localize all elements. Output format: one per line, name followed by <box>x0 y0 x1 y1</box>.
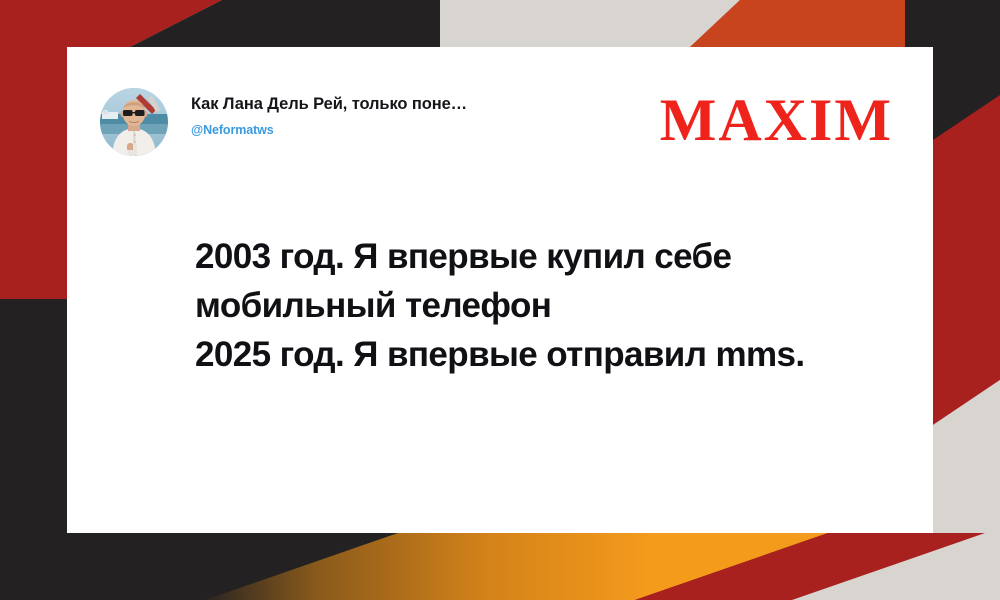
bg-top-dark-connector <box>400 0 440 47</box>
screenshot-canvas: Как Лана Дель Рей, только поне… @Neforma… <box>0 0 1000 600</box>
account-display-name: Как Лана Дель Рей, только поне… <box>191 95 467 114</box>
bg-right-red-slab <box>933 95 1000 425</box>
tweet-body: 2003 год. Я впервые купил себе мобильный… <box>195 232 893 379</box>
maxim-logo: MAXIM <box>660 90 893 150</box>
tweet-body-line: 2003 год. Я впервые купил себе <box>195 232 893 281</box>
avatar[interactable] <box>100 88 168 156</box>
bg-left-red-column <box>0 47 67 299</box>
tweet-body-line: 2025 год. Я впервые отправил mms. <box>195 330 893 379</box>
account-handle[interactable]: @Neformatws <box>191 123 467 137</box>
avatar-photo <box>100 88 168 156</box>
tweet-body-line: мобильный телефон <box>195 281 893 330</box>
account-block: Как Лана Дель Рей, только поне… @Neforma… <box>191 88 467 137</box>
tweet-card: Как Лана Дель Рей, только поне… @Neforma… <box>67 52 933 533</box>
bg-top-far-left-red <box>0 0 118 47</box>
